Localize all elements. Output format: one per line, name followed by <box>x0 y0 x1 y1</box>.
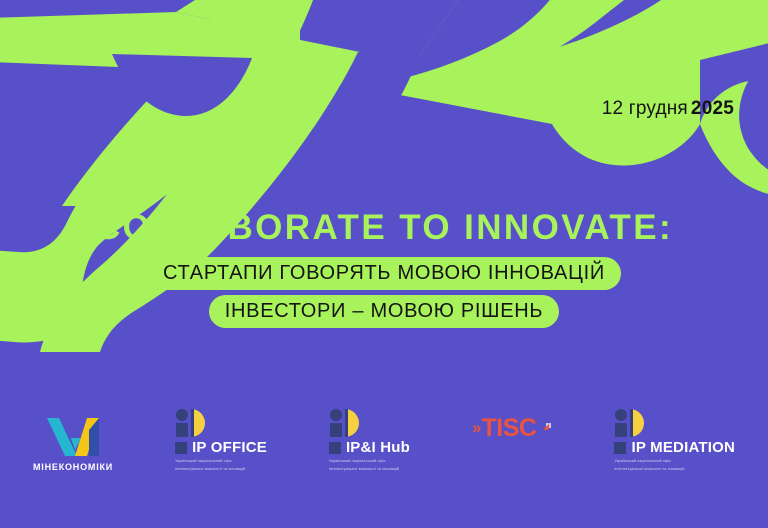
logo-ip-mediation-label: IP MEDIATION <box>631 439 735 456</box>
ip-circle-half-mark-icon <box>329 408 359 438</box>
event-date-year: 2025 <box>691 98 734 119</box>
ribbon-fork-notch <box>404 0 560 78</box>
event-date: 12 грудня2025 <box>602 98 734 120</box>
ribbon-upper-right-strand <box>404 0 560 86</box>
ip-circle-half-mark-icon <box>175 408 205 438</box>
logo-tisc-label: TISC <box>482 414 537 443</box>
subtitle-row-1: СТАРТАПИ ГОВОРЯТЬ МОВОЮ ІННОВАЦІЙ <box>0 257 768 290</box>
event-poster: 12 грудня2025 COLLABORATE TO INNOVATE: С… <box>0 0 768 528</box>
logo-square-icon <box>329 442 341 454</box>
logo-mineconomy: МІНЕКОНОМІКИ <box>33 416 113 472</box>
event-date-day-month: 12 грудня <box>602 98 688 119</box>
subtitle-pill-2: ІНВЕСТОРИ – МОВОЮ РІШЕНЬ <box>209 295 559 328</box>
logo-ip-office-tagline-1: Український національний офіс <box>175 459 232 464</box>
page-title: COLLABORATE TO INNOVATE: <box>0 206 768 250</box>
logo-ip-i-hub-name-row: IP&I Hub <box>329 439 410 456</box>
logo-mineconomy-label: МІНЕКОНОМІКИ <box>33 462 113 472</box>
m-chevron-mark-icon <box>45 416 101 456</box>
partner-logo-strip: МІНЕКОНОМІКИ IP OFFICE Український націо… <box>0 400 768 472</box>
logo-ip-mediation: IP MEDIATION Український національний оф… <box>614 408 735 472</box>
ribbon-crescent-notch <box>112 54 252 116</box>
logo-ip-i-hub-label: IP&I Hub <box>346 439 410 456</box>
logo-square-icon <box>175 442 187 454</box>
logo-ip-i-hub: IP&I Hub Український національний офіс і… <box>329 408 410 472</box>
logo-ip-i-hub-tagline-2: інтелектуальної власності та інновацій <box>329 467 399 472</box>
subtitle-pill-1: СТАРТАПИ ГОВОРЯТЬ МОВОЮ ІННОВАЦІЙ <box>147 257 621 290</box>
arrow-up-right-icon <box>538 421 552 435</box>
logo-ip-office-name-row: IP OFFICE <box>175 439 267 456</box>
logo-tisc-row: » TISC <box>472 414 552 443</box>
logo-ip-office-label: IP OFFICE <box>192 439 267 456</box>
logo-ip-mediation-name-row: IP MEDIATION <box>614 439 735 456</box>
logo-tisc: » TISC <box>472 414 552 443</box>
logo-ip-mediation-tagline-1: Український національний офіс <box>614 459 671 464</box>
ip-circle-half-mark-icon <box>614 408 644 438</box>
subtitle-row-2: ІНВЕСТОРИ – МОВОЮ РІШЕНЬ <box>0 295 768 328</box>
logo-ip-i-hub-tagline-1: Український національний офіс <box>329 459 386 464</box>
double-chevron-icon: » <box>472 418 479 438</box>
ribbon-wedge-upper-left <box>60 18 300 206</box>
logo-ip-mediation-tagline-2: інтелектуальної власності та інновацій <box>614 467 684 472</box>
logo-ip-office-tagline-2: інтелектуальної власності та інновацій <box>175 467 245 472</box>
ribbon-diagonal-trunk <box>176 0 300 38</box>
logo-square-icon <box>614 442 626 454</box>
logo-ip-office: IP OFFICE Український національний офіс … <box>175 408 267 472</box>
ribbon-right-band <box>300 0 642 86</box>
headline-block: COLLABORATE TO INNOVATE: СТАРТАПИ ГОВОРЯ… <box>0 206 768 328</box>
ribbon-horizontal-left <box>0 12 300 74</box>
